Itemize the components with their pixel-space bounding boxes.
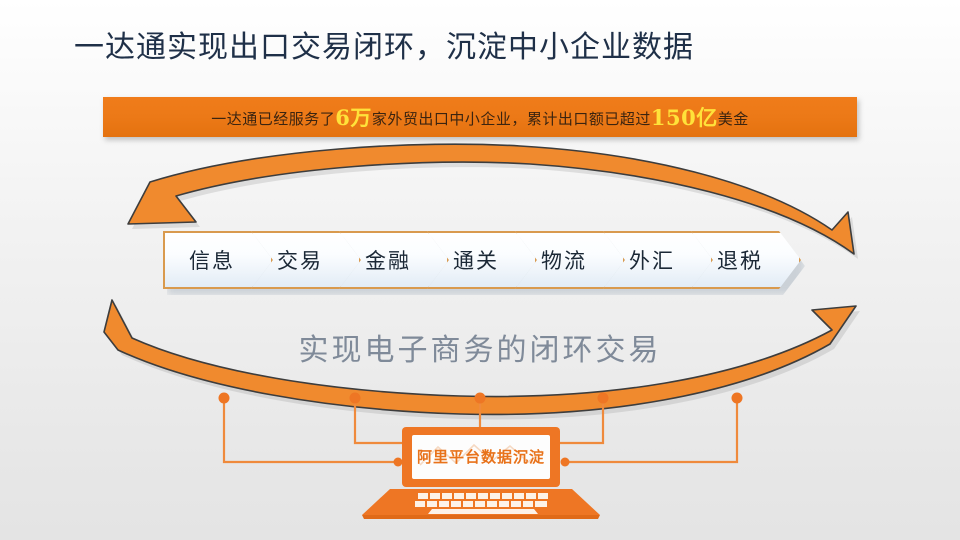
connector-node-5 bbox=[732, 393, 743, 404]
process-step-label: 交易 bbox=[277, 245, 323, 275]
banner-highlight-amount: 150亿 bbox=[651, 105, 718, 130]
connector-node-4 bbox=[598, 393, 609, 404]
banner-prefix: 一达通已经服务了 bbox=[211, 110, 335, 128]
loop-caption: 实现电子商务的闭环交易 bbox=[0, 325, 960, 369]
banner-highlight-companies: 6万 bbox=[335, 105, 372, 130]
laptop-keyboard bbox=[415, 493, 548, 514]
process-step-label: 物流 bbox=[541, 245, 587, 275]
laptop-spacebar bbox=[428, 509, 538, 514]
laptop-screen-label: 阿里平台数据沉淀 bbox=[362, 446, 600, 467]
connector-node-3 bbox=[475, 393, 486, 404]
process-step-label: 金融 bbox=[365, 245, 411, 275]
banner-text: 一达通已经服务了6万家外贸出口中小企业，累计出口额已超过150亿美金 bbox=[211, 102, 749, 132]
process-step-xinxi[interactable]: 信息 bbox=[163, 231, 273, 289]
process-step-label: 退税 bbox=[717, 245, 763, 275]
banner-suffix: 美金 bbox=[718, 110, 749, 128]
slide-canvas: 一达通实现出口交易闭环，沉淀中小企业数据 一达通已经服务了6万家外贸出口中小企业… bbox=[0, 0, 960, 540]
page-title: 一达通实现出口交易闭环，沉淀中小企业数据 bbox=[74, 22, 694, 66]
process-chevron-bar: 信息 交易 金融 通关 物流 外汇 退税 bbox=[163, 231, 801, 289]
process-step-label: 信息 bbox=[189, 245, 235, 275]
process-step-label: 外汇 bbox=[629, 245, 675, 275]
process-step-label: 通关 bbox=[453, 245, 499, 275]
connector-node-1 bbox=[219, 393, 230, 404]
banner-middle: 家外贸出口中小企业，累计出口额已超过 bbox=[372, 110, 651, 128]
laptop-illustration bbox=[362, 425, 600, 523]
connector-node-2 bbox=[350, 393, 361, 404]
statistics-banner: 一达通已经服务了6万家外贸出口中小企业，累计出口额已超过150亿美金 bbox=[103, 97, 857, 137]
laptop-base-edge bbox=[362, 515, 600, 519]
